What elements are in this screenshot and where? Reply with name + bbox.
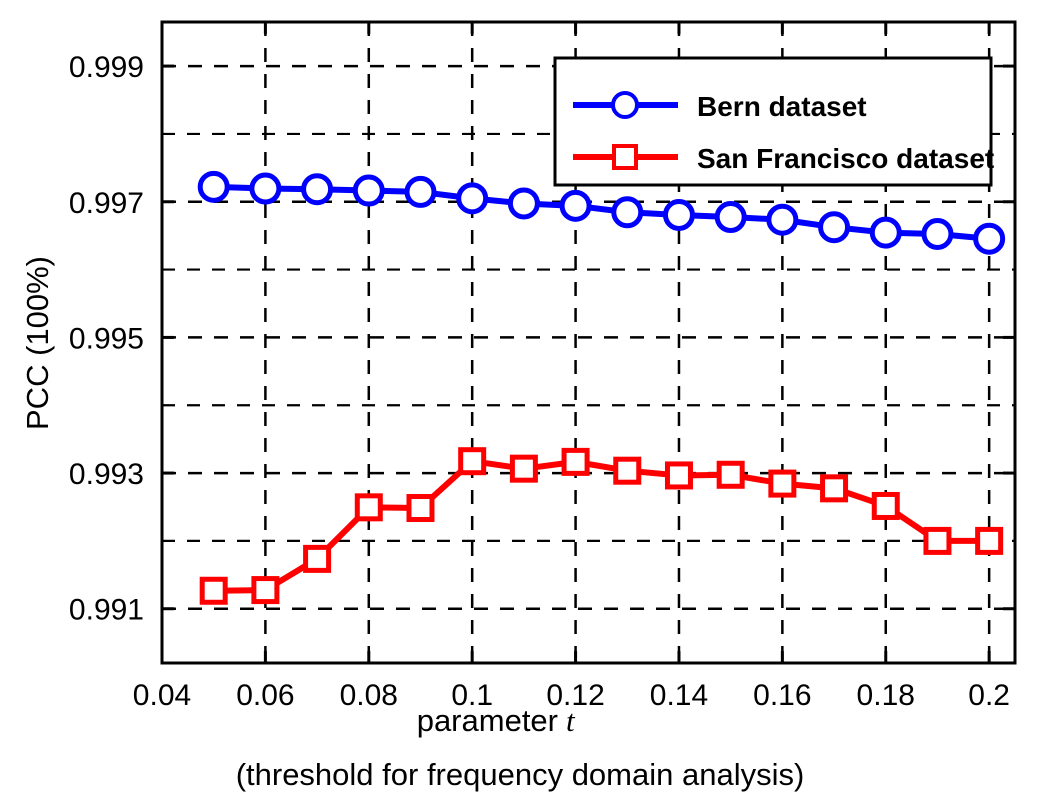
data-point-circle [872,219,899,246]
data-point-square [874,494,897,517]
y-tick-label: 0.993 [69,458,144,491]
data-point-circle [407,178,434,205]
chart-figure: 0.040.060.080.10.120.140.160.180.2 0.991… [0,0,1040,810]
data-point-square [823,477,846,500]
data-point-square [461,450,484,473]
data-point-circle [769,206,796,233]
data-point-circle [976,225,1003,252]
data-point-circle [252,175,279,202]
data-point-circle [665,201,692,228]
x-tick-label: 0.04 [133,679,191,712]
x-tick-label: 0.14 [650,679,708,712]
x-tick-label: 0.2 [968,679,1010,712]
data-point-square [512,457,535,480]
data-point-square [616,459,639,482]
data-point-square [409,497,432,520]
data-point-square [719,463,742,486]
x-axis-subtitle: (threshold for frequency domain analysis… [236,757,805,792]
data-point-circle [717,204,744,231]
data-point-square [564,450,587,473]
data-point-circle [304,176,331,203]
x-axis-title-main: parameter [417,703,558,738]
data-point-circle [821,214,848,241]
data-point-circle [924,220,951,247]
data-point-square [771,472,794,495]
y-tick-label: 0.995 [69,322,144,355]
data-point-square [357,496,380,519]
circle-marker-icon [613,93,637,117]
y-axis-title: PCC (100%) [20,256,55,430]
data-point-circle [614,199,641,226]
square-marker-icon [614,146,636,168]
x-tick-label: 0.16 [753,679,811,712]
legend-item-san-francisco[interactable]: San Francisco dataset [573,143,994,174]
data-point-circle [562,192,589,219]
legend-label-san-francisco: San Francisco dataset [697,143,994,174]
x-tick-label: 0.08 [340,679,398,712]
y-tick-label: 0.999 [69,51,144,84]
data-point-square [254,579,277,602]
data-point-square [202,579,225,602]
legend-label-bern: Bern dataset [697,91,867,122]
data-point-square [306,547,329,570]
pcc-vs-parameter-t-line-chart: 0.040.060.080.10.120.140.160.180.2 0.991… [0,0,1040,810]
data-point-circle [355,177,382,204]
data-point-circle [459,185,486,212]
x-axis-title-symbol: t [566,703,576,738]
data-point-square [926,529,949,552]
data-point-circle [510,190,537,217]
data-point-square [667,464,690,487]
x-tick-label: 0.18 [857,679,915,712]
chart-legend[interactable]: Bern dataset San Francisco dataset [555,58,994,185]
data-point-circle [200,173,227,200]
data-point-square [978,529,1001,552]
y-tick-label: 0.997 [69,187,144,220]
y-tick-label: 0.991 [69,594,144,627]
x-axis-title-group: parameter t [417,703,576,738]
x-tick-label: 0.06 [236,679,294,712]
